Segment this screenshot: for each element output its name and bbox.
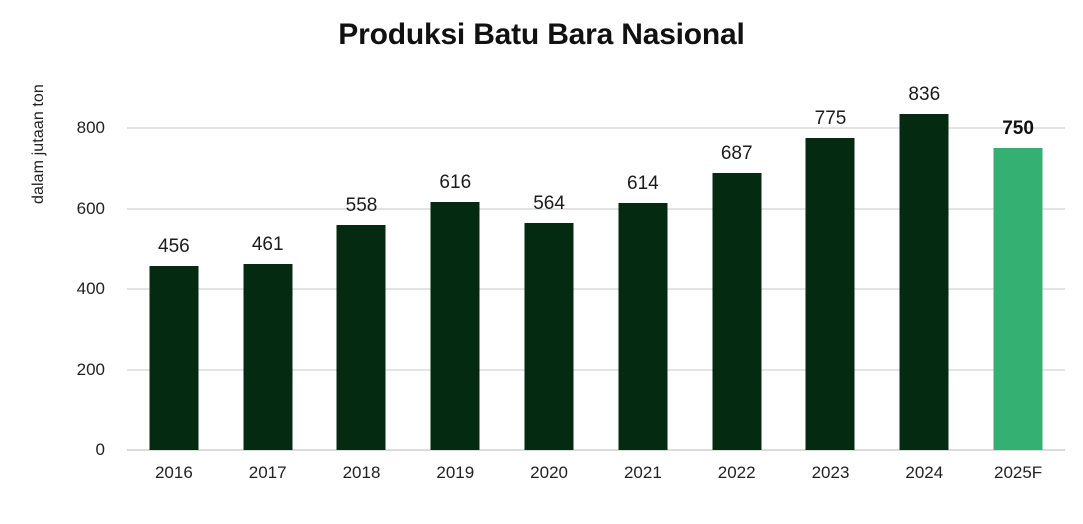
x-tick-label-2024: 2024 xyxy=(905,463,943,483)
bar-2023[interactable] xyxy=(806,138,855,450)
bars-layer: 456461558616564614687775836750 xyxy=(127,128,1065,450)
bar-value-label-2019: 616 xyxy=(439,172,471,194)
bar-2024[interactable] xyxy=(900,114,949,450)
bar-group[interactable]: 750 xyxy=(971,128,1065,450)
bar-2017[interactable] xyxy=(243,264,292,450)
bar-value-label-2023: 775 xyxy=(815,108,847,130)
bar-2021[interactable] xyxy=(618,203,667,450)
y-tick-label-800: 800 xyxy=(35,118,105,138)
bar-value-label-2024: 836 xyxy=(908,84,940,106)
bar-chart: Produksi Batu Bara Nasional dalam jutaan… xyxy=(0,0,1083,524)
bar-2020[interactable] xyxy=(525,223,574,450)
bar-2025F[interactable] xyxy=(994,148,1043,450)
x-tick-label-2019: 2019 xyxy=(436,463,474,483)
bar-2016[interactable] xyxy=(149,266,198,450)
bar-group[interactable]: 558 xyxy=(315,128,409,450)
bar-2018[interactable] xyxy=(337,225,386,450)
bar-group[interactable]: 775 xyxy=(784,128,878,450)
bar-2022[interactable] xyxy=(712,173,761,450)
chart-title: Produksi Batu Bara Nasional xyxy=(0,18,1083,52)
y-tick-label-400: 400 xyxy=(35,279,105,299)
y-axis-tick-labels: 0200400600800 xyxy=(35,128,105,450)
bar-value-label-2022: 687 xyxy=(721,143,753,165)
bar-value-label-2025F: 750 xyxy=(1002,118,1034,140)
bar-value-label-2020: 564 xyxy=(533,193,565,215)
bar-group[interactable]: 614 xyxy=(596,128,690,450)
x-tick-label-2021: 2021 xyxy=(624,463,662,483)
x-tick-label-2025F: 2025F xyxy=(994,463,1042,483)
x-tick-label-2018: 2018 xyxy=(343,463,381,483)
x-tick-label-2022: 2022 xyxy=(718,463,756,483)
bar-group[interactable]: 461 xyxy=(221,128,315,450)
y-tick-label-600: 600 xyxy=(35,199,105,219)
y-tick-label-0: 0 xyxy=(35,440,105,460)
bar-value-label-2021: 614 xyxy=(627,173,659,195)
x-axis-tick-labels: 2016201720182019202020212022202320242025… xyxy=(127,463,1065,493)
x-tick-label-2016: 2016 xyxy=(155,463,193,483)
bar-group[interactable]: 687 xyxy=(690,128,784,450)
bar-2019[interactable] xyxy=(431,202,480,450)
bar-group[interactable]: 564 xyxy=(502,128,596,450)
x-tick-label-2017: 2017 xyxy=(249,463,287,483)
bar-group[interactable]: 616 xyxy=(408,128,502,450)
bar-group[interactable]: 836 xyxy=(877,128,971,450)
bar-value-label-2018: 558 xyxy=(346,195,378,217)
y-tick-label-200: 200 xyxy=(35,360,105,380)
bar-value-label-2016: 456 xyxy=(158,236,190,258)
bar-value-label-2017: 461 xyxy=(252,234,284,256)
x-tick-label-2023: 2023 xyxy=(812,463,850,483)
bar-group[interactable]: 456 xyxy=(127,128,221,450)
x-tick-label-2020: 2020 xyxy=(530,463,568,483)
